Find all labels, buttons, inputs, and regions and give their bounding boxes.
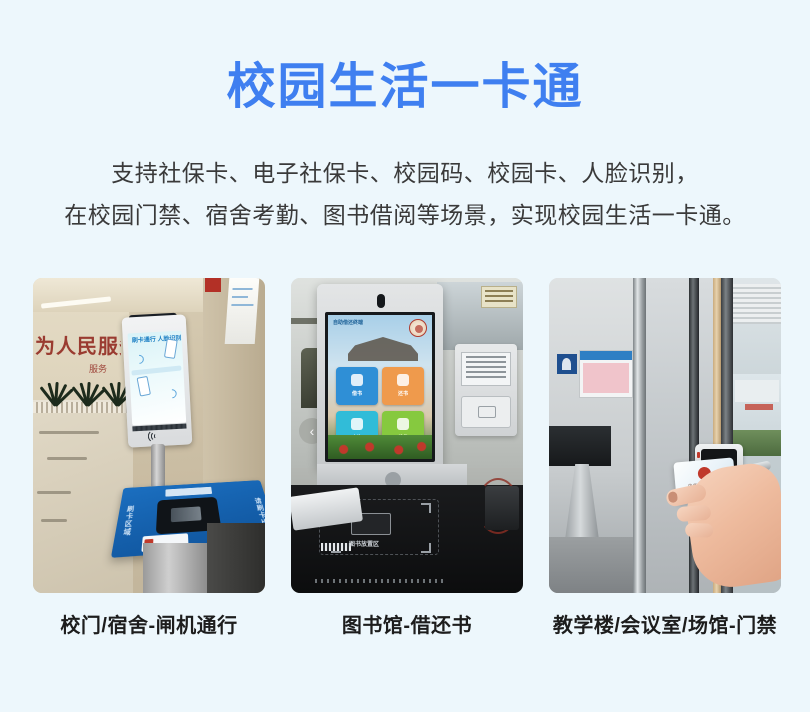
page-subtitle: 支持社保卡、电子社保卡、校园码、校园卡、人脸识别， 在校园门禁、宿舍考勤、图书借…	[0, 152, 810, 236]
school-seal-icon	[409, 319, 427, 337]
card-reader-window[interactable]	[461, 396, 511, 428]
indoor-floor	[549, 537, 633, 593]
potted-plant	[41, 376, 71, 406]
poster-header	[580, 351, 632, 360]
page-root: 校园生活一卡通 支持社保卡、电子社保卡、校园码、校园卡、人脸识别， 在校园门禁、…	[0, 0, 810, 712]
deck-dot-row	[315, 579, 445, 583]
panel-left-label: 刷卡区域	[120, 505, 135, 537]
photo-door-access: 中华人民共和国 社会保障卡	[549, 278, 781, 593]
search-icon	[351, 418, 363, 430]
caption-gate: 校门/宿舍-闸机通行	[33, 609, 265, 638]
kiosk-tile-borrow[interactable]: 借书	[336, 367, 378, 405]
campus-building-graphic	[348, 337, 418, 361]
screen-flower-graphic	[328, 435, 432, 459]
borrow-icon	[351, 374, 363, 386]
screen-graphic-bar	[131, 365, 181, 375]
tile-label: 还书	[382, 391, 424, 397]
photo-gate-turnstile: 为人民服务 服务	[33, 278, 265, 593]
wall-poster	[579, 350, 633, 398]
wall-slogan-text: 为人民服务	[35, 330, 121, 360]
subtitle-line-2: 在校园门禁、宿舍考勤、图书借阅等场景，实现校园生活一卡通。	[0, 194, 810, 236]
wall-sign	[481, 286, 517, 308]
tile-label: 借书	[336, 391, 378, 397]
lobby-floor	[33, 413, 133, 593]
ceiling-blind	[733, 284, 781, 324]
outdoor-signage	[745, 404, 773, 410]
door-frame	[633, 278, 646, 593]
reception-counter	[549, 426, 611, 466]
terminal-pole	[151, 444, 165, 488]
outdoor-view	[733, 374, 781, 432]
scene-card-row: 为人民服务 服务	[33, 278, 781, 638]
terminal-screen: 刷卡通行 人脸识别	[127, 331, 186, 426]
panel-logo	[165, 487, 212, 497]
kiosk-screen-header: 自助借还终端	[333, 320, 363, 327]
face-recognition-terminal[interactable]: 刷卡通行 人脸识别	[122, 314, 193, 447]
turnstile-body-dark	[207, 523, 265, 593]
wall-slogan-sub: 服务	[89, 362, 129, 374]
page-title: 校园生活一卡通	[0, 58, 810, 116]
side-device	[485, 486, 519, 530]
poster-body	[583, 363, 629, 393]
red-banner-edge	[205, 278, 221, 292]
caption-library: 图书馆-借还书	[291, 609, 523, 638]
wall-notice-paper	[225, 278, 260, 344]
subtitle-line-1: 支持社保卡、电子社保卡、校园码、校园卡、人脸识别，	[111, 160, 699, 186]
phone-illustration	[164, 338, 178, 358]
return-icon	[397, 374, 409, 386]
nfc-wave-icon	[146, 429, 173, 442]
kiosk-camera-icon	[377, 294, 385, 308]
turnstile-base	[143, 543, 207, 593]
status-led-icon	[697, 452, 700, 458]
scene-card-library[interactable]: ‹ 自助借还终端 借书 还书	[291, 278, 523, 638]
finger	[685, 523, 713, 538]
caption-door-access: 教学楼/会议室/场馆-门禁	[549, 609, 781, 638]
deck-label: 图书放置区	[349, 539, 379, 548]
phone-illustration	[137, 376, 151, 397]
barcode-strip	[321, 543, 351, 551]
wifi-wave-icon	[133, 353, 146, 366]
side-reader-panel[interactable]	[455, 344, 517, 436]
kiosk-upper-housing[interactable]: 自助借还终端 借书 还书 查询	[317, 284, 443, 470]
outdoor-building	[735, 380, 779, 402]
deck-corner-marker	[421, 543, 431, 553]
deck-corner-marker	[421, 503, 431, 513]
kiosk-tile-return[interactable]: 还书	[382, 367, 424, 405]
panel-instruction-box	[461, 352, 511, 386]
wifi-wave-icon	[166, 387, 179, 400]
finger	[676, 505, 711, 522]
scene-card-gate[interactable]: 为人民服务 服务	[33, 278, 265, 638]
renew-icon	[397, 418, 409, 430]
potted-plant	[73, 376, 103, 406]
kiosk-screen[interactable]: 自助借还终端 借书 还书 查询	[325, 312, 435, 462]
scene-card-door-access[interactable]: 中华人民共和国 社会保障卡 教学楼/会议室/场馆-门禁	[549, 278, 781, 638]
wayfinding-sign-icon	[557, 354, 577, 374]
photo-library-kiosk: ‹ 自助借还终端 借书 还书	[291, 278, 523, 593]
